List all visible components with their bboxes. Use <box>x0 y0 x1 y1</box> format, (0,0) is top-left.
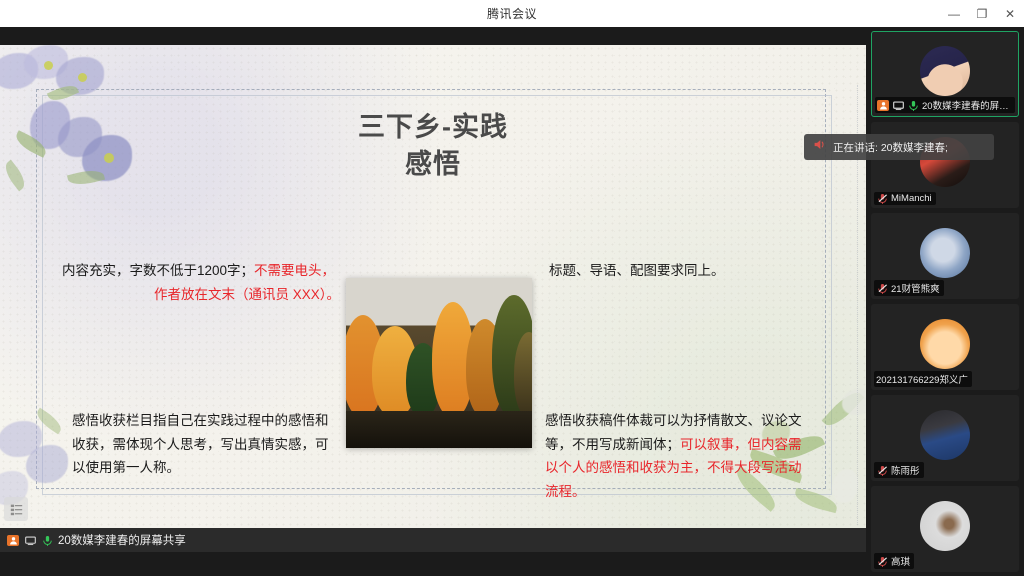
participant-name: 高琪 <box>891 554 910 568</box>
left-top-red-text: 不需要电头， <box>254 263 335 278</box>
participant-tile-presenter[interactable]: 20数媒李建春的屏幕... <box>871 31 1019 117</box>
mic-off-icon <box>876 465 888 476</box>
avatar <box>920 410 970 460</box>
left-top-red-text-2: 作者放在文末（通讯员 XXX）。 <box>62 283 340 307</box>
participants-panel[interactable]: 20数媒李建春的屏幕... MiManchi 21财管熊爽 <box>866 27 1024 576</box>
slide-title-line2: 感悟 <box>0 146 866 183</box>
participant-tile-chenyutong[interactable]: 陈雨彤 <box>871 395 1019 481</box>
minimize-button[interactable]: — <box>940 0 968 27</box>
participant-name-bar: 20数媒李建春的屏幕... <box>875 97 1015 113</box>
host-icon <box>7 535 19 546</box>
powerpoint-slide[interactable]: 三下乡-实践 感悟 内容充实，字数不低于1200字；不需要电头， 作者放在文末（… <box>0 45 866 532</box>
maximize-button[interactable]: ❐ <box>968 0 996 27</box>
avatar <box>920 501 970 551</box>
mic-off-icon <box>876 283 888 294</box>
participant-tile-gaoqi[interactable]: 高琪 <box>871 486 1019 572</box>
participant-name-bar: 陈雨彤 <box>874 462 924 478</box>
slide-title-line1: 三下乡-实践 <box>358 112 508 142</box>
left-bottom-text-block: 感悟收获栏目指自己在实践过程中的感悟和收获，需体现个人思考，写出真情实感，可以使… <box>72 409 330 480</box>
participant-name: MiManchi <box>891 193 932 204</box>
window-controls: — ❐ ✕ <box>940 0 1024 27</box>
slide-title: 三下乡-实践 感悟 <box>0 109 866 184</box>
app-title: 腾讯会议 <box>487 5 537 22</box>
participant-name-bar: 高琪 <box>874 553 914 569</box>
right-top-text-block: 标题、导语、配图要求同上。 <box>549 259 829 283</box>
close-button[interactable]: ✕ <box>996 0 1024 27</box>
participant-name: 21财管熊爽 <box>891 281 940 295</box>
screen-share-icon <box>24 535 36 546</box>
mic-on-icon <box>907 100 919 111</box>
speaking-text: 正在讲话: 20数媒李建春; <box>833 140 948 155</box>
participant-name: 陈雨彤 <box>891 463 920 477</box>
slide-menu-icon[interactable] <box>4 497 28 521</box>
avatar <box>920 46 970 96</box>
left-top-black-text: 内容充实，字数不低于1200字； <box>62 263 254 278</box>
participant-name-bar: MiManchi <box>874 192 936 205</box>
host-icon <box>877 100 889 111</box>
participant-name: 202131766229郑义广 <box>876 372 968 386</box>
avatar <box>920 319 970 369</box>
participant-name-bar: 202131766229郑义广 <box>874 371 972 387</box>
speaking-icon <box>813 138 826 156</box>
share-top-strip <box>0 27 866 45</box>
avatar <box>920 228 970 278</box>
screen-share-status-bar: 20数媒李建春的屏幕共享 <box>0 528 866 552</box>
right-bottom-text-block: 感悟收获稿件体裁可以为抒情散文、议论文等，不用写成新闻体；可以叙事，但内容需以个… <box>545 409 803 504</box>
mic-off-icon <box>876 193 888 204</box>
screen-share-icon <box>892 100 904 111</box>
participant-name: 20数媒李建春的屏幕... <box>922 98 1011 112</box>
mic-off-icon <box>876 556 888 567</box>
mic-on-icon <box>41 535 53 546</box>
speaking-toast: 正在讲话: 20数媒李建春; <box>804 134 994 160</box>
participant-tile-zhengyiguang[interactable]: 202131766229郑义广 <box>871 304 1019 390</box>
autumn-trees-photo <box>346 278 532 448</box>
screen-share-owner-label: 20数媒李建春的屏幕共享 <box>58 532 186 548</box>
shared-screen-area[interactable]: 三下乡-实践 感悟 内容充实，字数不低于1200字；不需要电头， 作者放在文末（… <box>0 27 866 552</box>
title-bar: 腾讯会议 — ❐ ✕ <box>0 0 1024 27</box>
participant-tile-21caiguan[interactable]: 21财管熊爽 <box>871 213 1019 299</box>
participant-name-bar: 21财管熊爽 <box>874 280 944 296</box>
left-top-text-block: 内容充实，字数不低于1200字；不需要电头， 作者放在文末（通讯员 XXX）。 <box>62 259 340 306</box>
tencent-meeting-window: 腾讯会议 — ❐ ✕ <box>0 0 1024 576</box>
left-bottom-black-text: 感悟收获栏目指自己在实践过程中的感悟和收获，需体现个人思考，写出真情实感，可以使… <box>72 413 329 475</box>
right-top-black-text: 标题、导语、配图要求同上。 <box>549 263 725 278</box>
